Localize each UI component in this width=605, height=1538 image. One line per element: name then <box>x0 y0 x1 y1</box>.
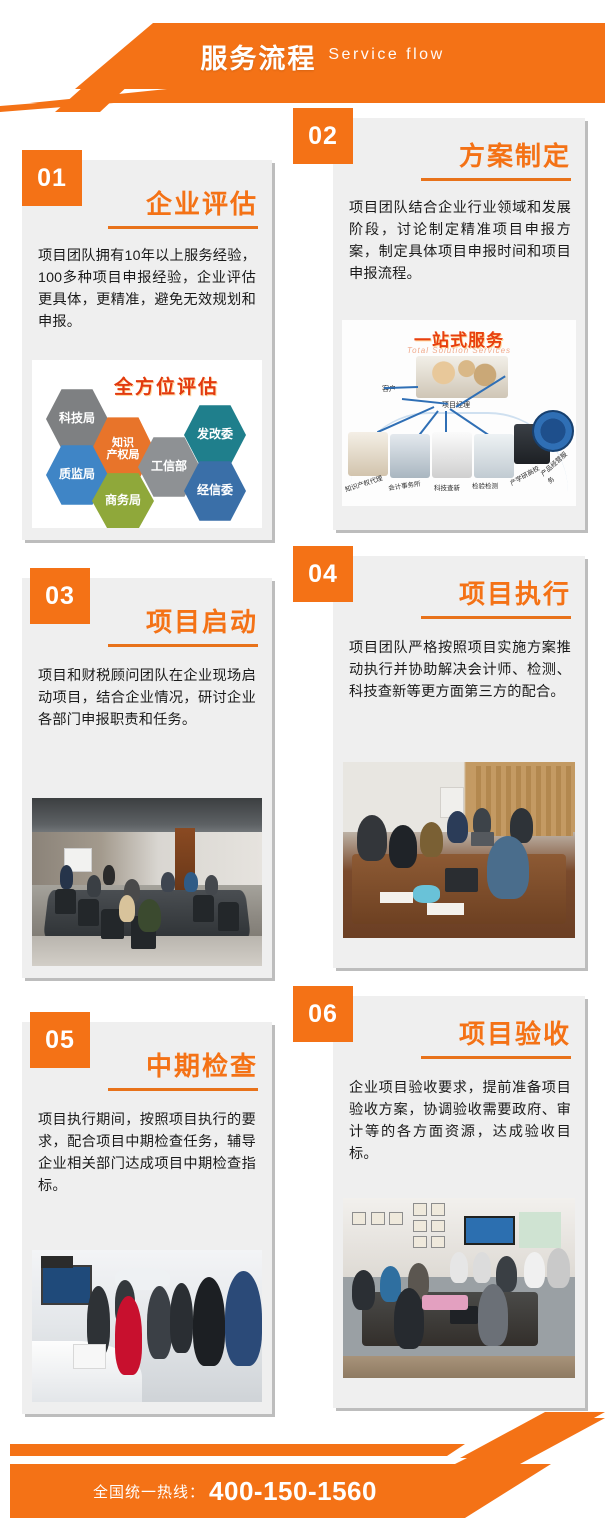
card-04[interactable]: 04 项目执行 项目团队严格按照项目实施方案推动执行并协助解决会计师、检测、科技… <box>333 556 585 968</box>
card-06-body: 企业项目验收要求，提前准备项目验收方案，协调验收需要政府、审计等的各方面资源，达… <box>349 1077 571 1165</box>
card-01[interactable]: 01 企业评估 项目团队拥有10年以上服务经验，100多种项目申报经验，企业评估… <box>22 160 272 540</box>
page-footer: 全国统一热线： 400-150-1560 <box>0 1412 605 1538</box>
card-03-number: 03 <box>30 568 90 624</box>
card-06-photo <box>343 1198 575 1378</box>
page-title: 服务流程 <box>200 37 316 76</box>
card-06-title: 项目验收 <box>333 1014 585 1051</box>
page-header: 服务流程 Service flow <box>0 0 605 112</box>
card-03-body: 项目和财税顾问团队在企业现场启动项目，结合企业情况，研讨企业各部门申报职责和任务… <box>38 665 256 731</box>
footer-hotline: 全国统一热线： 400-150-1560 <box>0 1464 470 1518</box>
service-thumb-1 <box>348 432 388 476</box>
card-04-title-rule <box>421 616 571 619</box>
card-02-title: 方案制定 <box>333 136 585 173</box>
card-04-title: 项目执行 <box>333 574 585 611</box>
card-05-body: 项目执行期间，按照项目执行的要求，配合项目中期检查任务，辅导企业相关部门达成项目… <box>38 1109 256 1197</box>
card-04-number: 04 <box>293 546 353 602</box>
card-03[interactable]: 03 项目启动 项目和财税顾问团队在企业现场启动项目，结合企业情况，研讨企业各部… <box>22 578 272 978</box>
card-01-title-rule <box>108 226 258 229</box>
card-02-number: 02 <box>293 108 353 164</box>
hex-diagram-heading: 全方位评估 <box>114 372 219 399</box>
footer-hotline-label: 全国统一热线： <box>93 1481 205 1502</box>
card-04-photo <box>343 762 575 938</box>
card-05-photo <box>32 1250 262 1402</box>
service-arrow-1 <box>384 386 418 389</box>
card-02-service-diagram: 一站式服务 Total Solution Services 客户 项目经理 <box>342 320 576 506</box>
page-subtitle: Service flow <box>328 46 444 66</box>
card-05-title-rule <box>108 1088 258 1091</box>
service-badge-icon <box>532 410 574 452</box>
card-06[interactable]: 06 项目验收 企业项目验收要求，提前准备项目验收方案，协调验收需要政府、审计等… <box>333 996 585 1408</box>
card-02-title-rule <box>421 178 571 181</box>
service-center-photo <box>416 356 508 398</box>
service-node-label-4: 检验检测 <box>472 480 498 490</box>
card-04-body: 项目团队严格按照项目实施方案推动执行并协助解决会计师、检测、科技查新等更方面第三… <box>349 637 571 703</box>
card-03-photo <box>32 798 262 966</box>
service-diagram-subtitle: Total Solution Services <box>342 346 576 355</box>
card-02[interactable]: 02 方案制定 项目团队结合企业行业领域和发展阶段，讨论制定精准项目申报方案，制… <box>333 118 585 530</box>
card-01-hexagon-diagram: 全方位评估 科技局 知识 产权局 发改委 质监局 工信部 商务局 经信委 <box>32 360 262 528</box>
service-thumb-4 <box>474 434 514 478</box>
card-06-number: 06 <box>293 986 353 1042</box>
service-thumb-2 <box>390 434 430 478</box>
card-05[interactable]: 05 中期检查 项目执行期间，按照项目执行的要求，配合项目中期检查任务，辅导企业… <box>22 1022 272 1414</box>
card-01-body: 项目团队拥有10年以上服务经验，100多种项目申报经验，企业评估更具体，更精准，… <box>38 245 256 333</box>
card-06-title-rule <box>421 1056 571 1059</box>
card-02-body: 项目团队结合企业行业领域和发展阶段，讨论制定精准项目申报方案，制定具体项目申报时… <box>349 197 571 285</box>
card-05-number: 05 <box>30 1012 90 1068</box>
service-thumb-3 <box>432 432 472 478</box>
service-node-label-3: 科技查新 <box>434 482 460 492</box>
card-03-title-rule <box>108 644 258 647</box>
footer-hotline-number[interactable]: 400-150-1560 <box>209 1476 377 1507</box>
card-01-number: 01 <box>22 150 82 206</box>
service-arrow-2 <box>402 398 448 405</box>
service-flow-page: 服务流程 Service flow 01 企业评估 项目团队拥有10年以上服务经… <box>0 0 605 1538</box>
header-title-group: 服务流程 Service flow <box>0 23 605 89</box>
